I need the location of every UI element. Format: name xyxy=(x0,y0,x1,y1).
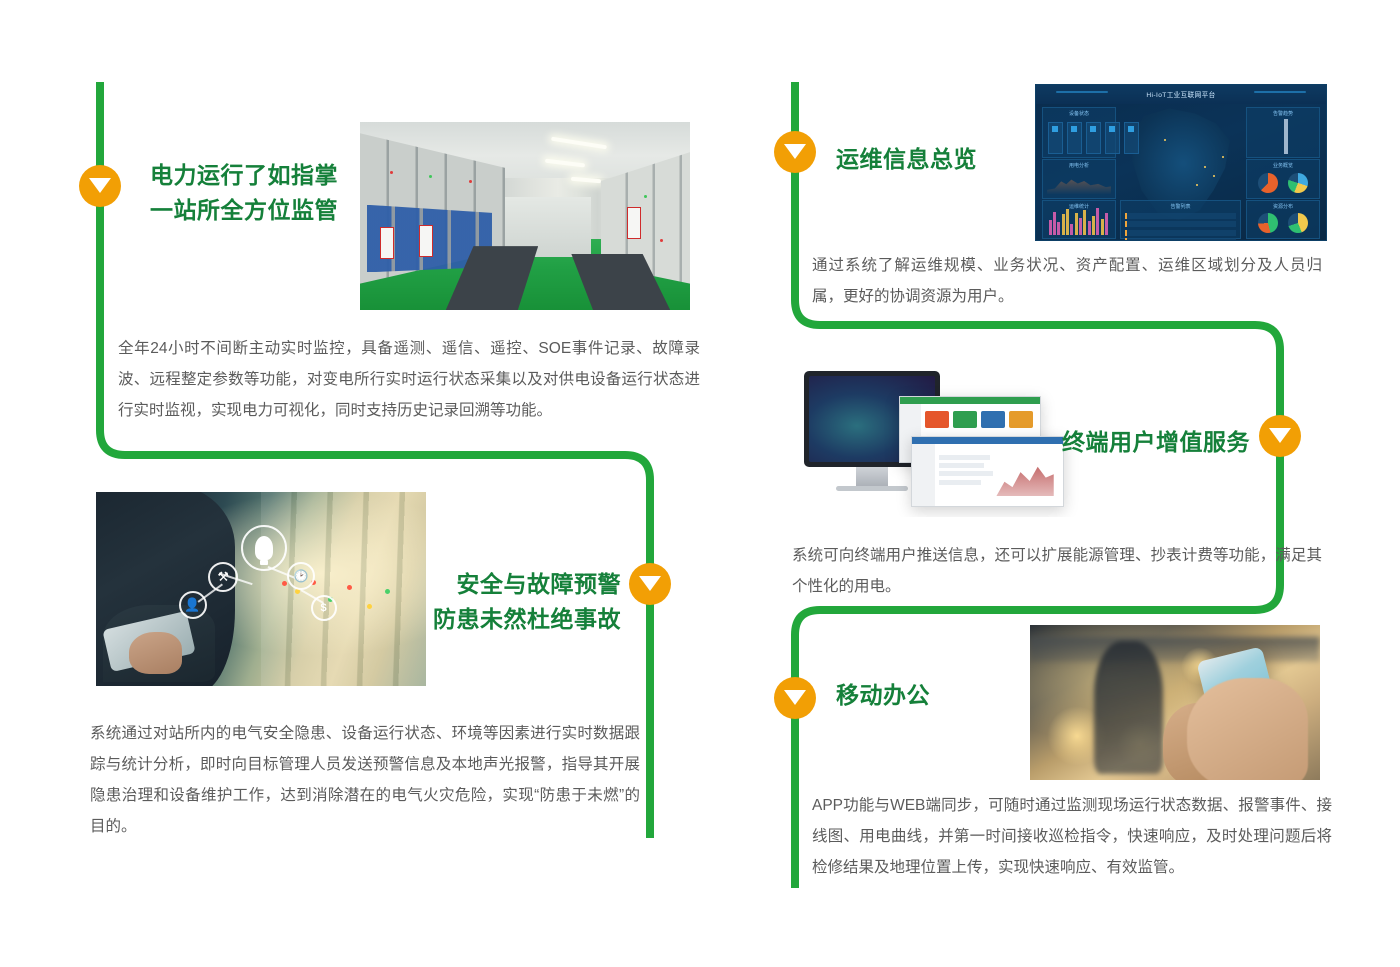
warning-sign xyxy=(419,225,433,257)
alarm-row xyxy=(1125,221,1236,227)
donut-chart xyxy=(1258,213,1278,233)
alarm-row xyxy=(1125,213,1236,219)
dashboard-card-bar-stats: 运维统计 xyxy=(1042,200,1117,239)
lightbulb-icon xyxy=(241,525,287,571)
status-led xyxy=(367,604,372,609)
bar xyxy=(1096,208,1099,235)
dashboard-card-resource: 资源分布 xyxy=(1246,200,1321,239)
status-led xyxy=(385,589,390,594)
card-title: 业务概览 xyxy=(1247,162,1320,169)
alarm-row xyxy=(1125,230,1236,236)
section-body-safety-fault-warning: 系统通过对站所内的电气安全隐患、设备运行状态、环境等因素进行实时数据跟踪与统计分… xyxy=(90,718,640,842)
section-title-mobile-office: 移动办公 xyxy=(836,678,1136,713)
down-triangle-icon xyxy=(784,690,806,705)
donut-chart xyxy=(1288,213,1308,233)
bar xyxy=(1088,221,1091,235)
card-title: 运维统计 xyxy=(1043,203,1116,210)
marker-ops-info-overview[interactable] xyxy=(774,131,816,173)
marker-power-operation[interactable] xyxy=(79,165,121,207)
bar xyxy=(1053,212,1056,235)
spike-bar xyxy=(1284,119,1288,155)
dollar-icon: $ xyxy=(311,595,337,621)
background-blur-bar xyxy=(1030,637,1320,662)
dashboard-card-alarm-list: 告警列表 xyxy=(1120,200,1241,239)
section-title-ops-info-overview: 运维信息总览 xyxy=(836,142,1136,177)
dashboard-card-business: 业务概览 xyxy=(1246,159,1321,198)
holding-hand xyxy=(1187,678,1309,780)
down-triangle-icon xyxy=(1269,428,1291,443)
section-title-power-operation: 电力运行了如指掌 一站所全方位监管 xyxy=(150,158,350,228)
header-deco-bar xyxy=(1254,91,1306,93)
section-body-mobile-office: APP功能与WEB端同步，可随时通过监测现场运行状态数据、报警事件、接线图、用电… xyxy=(812,790,1332,883)
status-led xyxy=(282,581,287,586)
marker-mobile-office[interactable] xyxy=(774,677,816,719)
wrench-icon: ⚒ xyxy=(208,562,238,592)
bar xyxy=(1066,209,1069,235)
header-deco-bar xyxy=(1056,91,1108,93)
marker-end-user-value-added[interactable] xyxy=(1259,415,1301,457)
list-row xyxy=(939,471,993,476)
kpi-tile xyxy=(925,411,949,428)
bar xyxy=(1083,210,1086,235)
section-body-power-operation: 全年24小时不间断主动实时监控，具备遥测、遥信、遥控、SOE事件记录、故障录波、… xyxy=(118,333,700,426)
monitor-base xyxy=(836,486,909,491)
bar xyxy=(1101,219,1104,235)
marker-safety-fault-warning[interactable] xyxy=(629,563,671,605)
trend-area-chart xyxy=(996,462,1053,496)
section-title-safety-fault-warning: 安全与故障预警 防患未然杜绝事故 xyxy=(396,567,621,637)
engineer-tablet-photo: ⚒ 👤 🕑 $ xyxy=(96,492,426,686)
card-title: 告警趋势 xyxy=(1247,110,1320,117)
status-led xyxy=(347,585,352,590)
dashboard-title: Hi-IoT工业互联网平台 xyxy=(1146,89,1215,99)
monitor-stand xyxy=(856,467,888,487)
warning-sign xyxy=(627,207,641,239)
alarm-rows xyxy=(1125,213,1236,241)
list-row xyxy=(939,455,990,460)
donut-chart xyxy=(1258,173,1278,193)
section-body-end-user-value-added: 系统可向终端用户推送信息，还可以扩展能源管理、抄表计费等功能，满足其个性化的用电… xyxy=(792,540,1322,602)
bar xyxy=(1062,214,1065,234)
bar xyxy=(1092,216,1095,235)
status-led xyxy=(660,239,663,242)
list-row xyxy=(939,480,981,485)
section-title-end-user-value-added: 终端用户增值服务 xyxy=(1000,425,1250,460)
down-triangle-icon xyxy=(639,576,661,591)
warning-sign xyxy=(380,227,394,259)
engineer-hand xyxy=(129,632,182,675)
bar xyxy=(1057,222,1060,235)
bar xyxy=(1079,218,1082,235)
map-node-dot xyxy=(1164,139,1166,141)
card-title: 设备状态 xyxy=(1043,110,1116,117)
window-titlebar xyxy=(900,397,1039,404)
dashboard-card-trend: 告警趋势 xyxy=(1246,107,1321,159)
down-triangle-icon xyxy=(89,178,111,193)
switchgear-room-photo xyxy=(360,122,690,310)
donut-chart xyxy=(1288,173,1308,193)
area-line-chart xyxy=(1047,176,1111,194)
status-led xyxy=(390,171,393,174)
infographic-page: 电力运行了如指掌 一站所全方位监管 全年24小时不间断主动实时监控，具备遥测、遥… xyxy=(0,0,1400,967)
map-node-dot xyxy=(1213,175,1215,177)
card-title: 资源分布 xyxy=(1247,203,1320,210)
kpi-tile xyxy=(953,411,977,428)
person-icon: 👤 xyxy=(179,591,207,619)
bar xyxy=(1070,224,1073,235)
down-triangle-icon xyxy=(784,144,806,159)
card-title: 告警列表 xyxy=(1121,203,1240,210)
window-sidebar xyxy=(912,444,935,505)
map-node-dot xyxy=(1204,166,1206,168)
bar xyxy=(1049,220,1052,235)
bar xyxy=(1105,213,1108,235)
section-body-ops-info-overview: 通过系统了解运维规模、业务状况、资产配置、运维区域划分及人员归属，更好的协调资源… xyxy=(812,250,1322,312)
list-row xyxy=(939,463,984,468)
map-node-dot xyxy=(1196,184,1198,186)
ceiling-lamp-icon xyxy=(571,177,601,184)
bar xyxy=(1075,213,1078,235)
alarm-row xyxy=(1125,238,1236,241)
